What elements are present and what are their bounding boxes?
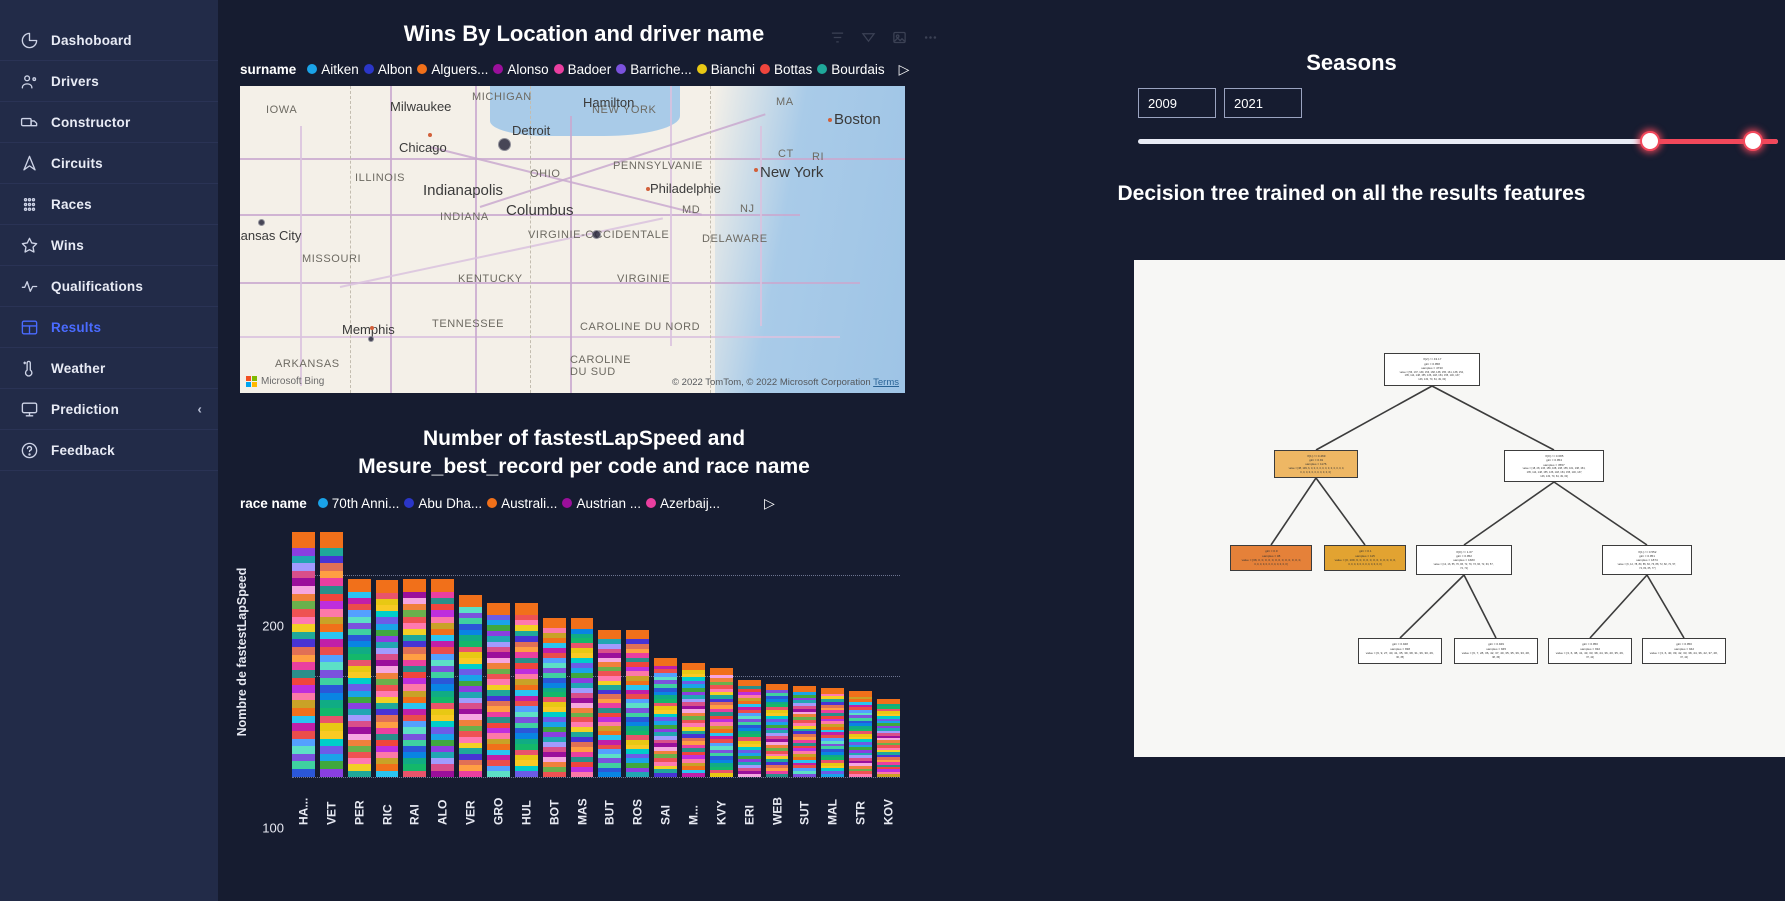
map-region-label: MICHIGAN: [472, 91, 532, 103]
bar-column[interactable]: [738, 680, 761, 777]
activity-icon: [18, 275, 40, 297]
bar-column[interactable]: [515, 603, 538, 776]
sidebar-item-label: Feedback: [51, 443, 115, 458]
legend-color-swatch: [493, 64, 503, 74]
bar-segment: [320, 617, 343, 625]
map-region-label: MD: [682, 204, 700, 216]
bar-segment: [292, 639, 315, 647]
legend-color-swatch: [307, 64, 317, 74]
users-icon: [18, 70, 40, 92]
bar-column[interactable]: [598, 630, 621, 777]
bar-column[interactable]: [571, 618, 594, 776]
x-axis-tick: SAI: [654, 781, 677, 825]
tree-node-text: 74, 84, 65, 77]: [1639, 567, 1655, 571]
decision-tree-image[interactable]: X[2] <= 43.17gini = 0.958samples = 4733v…: [1134, 260, 1785, 757]
x-axis-tick: RIC: [376, 781, 399, 825]
bar-segment: [320, 731, 343, 739]
y-axis-tick: 200: [262, 619, 284, 634]
tree-node: X[1] <= 0.469gini = 0.91samples = 1176va…: [1274, 450, 1358, 478]
tree-edge: [1432, 386, 1554, 450]
legend-label: Alonso: [507, 62, 548, 77]
map-legend-title: surname: [240, 62, 296, 77]
sidebar-item-label: Dashoboard: [51, 33, 132, 48]
map-city-label: Memphis: [342, 322, 395, 337]
legend-color-swatch: [562, 498, 572, 508]
x-axis-tick: BUT: [598, 781, 621, 825]
bar-segment-top: [598, 630, 621, 640]
bar-segment-top: [543, 618, 566, 628]
bar-segment: [292, 754, 315, 762]
legend-item[interactable]: Alonso: [493, 62, 548, 77]
tree-node-text: 0, 0, 0, 0, 0, 0, 0, 0, 0, 0, 0, 0]: [1254, 563, 1287, 567]
bar-segment: [320, 624, 343, 632]
map-point: [428, 133, 432, 137]
legend-color-swatch: [417, 64, 427, 74]
bar-segment: [571, 772, 594, 777]
sidebar: DashoboardDriversConstructorCircuitsRace…: [0, 0, 218, 901]
legend-item[interactable]: Bourdais: [817, 62, 884, 77]
bar-segment: [320, 563, 343, 571]
x-axis-tick: MAL: [821, 781, 844, 825]
bar-column[interactable]: [793, 686, 816, 777]
bar-segment: [292, 700, 315, 708]
legend-label: Aitken: [321, 62, 359, 77]
bar-segment-top: [682, 663, 705, 670]
x-axis-tick: BOT: [543, 781, 566, 825]
legend-item[interactable]: Bianchi: [697, 62, 755, 77]
map-region-label: CAROLINE DU SUD: [570, 354, 630, 379]
bar-segment: [292, 731, 315, 739]
bar-segment-top: [348, 579, 371, 592]
slider-handle-left[interactable]: [1640, 131, 1660, 151]
bar-segment: [626, 772, 649, 777]
tree-node: X[2] <= 43.17gini = 0.958samples = 4733v…: [1384, 353, 1480, 386]
map-city-label: New York: [760, 164, 823, 181]
map-road: [475, 86, 477, 393]
map-region-label: RI: [812, 151, 824, 163]
tree-node-text: 0, 0, 0, 0, 0, 0, 0, 0, 0, 0, 0]: [1301, 471, 1331, 475]
bar-segment: [292, 617, 315, 625]
bar-segment: [292, 769, 315, 777]
tree-edge: [1316, 386, 1432, 450]
legend-item[interactable]: Aitken: [307, 62, 359, 77]
sidebar-item-label: Qualifications: [51, 279, 143, 294]
thermometer-icon: [18, 357, 40, 379]
x-axis-tick: KOV: [877, 781, 900, 825]
sidebar-item-feedback[interactable]: Feedback: [0, 430, 218, 471]
bar-segment-top: [654, 658, 677, 666]
bar-segment: [320, 578, 343, 586]
seasons-and-tree-panel: Seasons 2009 2021 Decision tree trained …: [918, 0, 1785, 901]
bar-segment: [292, 662, 315, 670]
map-region-label: MISSOURI: [302, 253, 361, 265]
tree-node: X[1] <= 0.552gini = 0.951samples = 1874v…: [1602, 545, 1692, 575]
tree-edge: [1400, 575, 1464, 638]
season-from-input[interactable]: 2009: [1138, 88, 1216, 118]
sidebar-item-wins[interactable]: Wins: [0, 225, 218, 266]
x-axis-tick: ERI: [738, 781, 761, 825]
map-point: [754, 168, 758, 172]
truck-icon: [18, 111, 40, 133]
bar-segment: [292, 563, 315, 571]
bar-segment: [292, 739, 315, 747]
bing-attribution: Microsoft Bing: [246, 376, 324, 387]
map-point: [646, 187, 650, 191]
bar-visual-title: Number of fastestLapSpeed and Mesure_bes…: [240, 425, 928, 482]
x-axis-tick: WEB: [766, 781, 789, 825]
tree-node-text: 74, 71]: [1460, 567, 1468, 571]
sidebar-item-label: Circuits: [51, 156, 103, 171]
legend-label: Austrian ...: [576, 496, 641, 511]
map-region-label: ARKANSAS: [275, 358, 340, 370]
bar-segment: [320, 693, 343, 701]
bar-segment: [292, 624, 315, 632]
tree-node: gini = 0.950samples = 932value = [3, 6, …: [1548, 638, 1632, 664]
bar-segment: [682, 773, 705, 777]
bar-segment: [320, 716, 343, 724]
legend-item[interactable]: Australi...: [487, 496, 557, 511]
map-road: [760, 126, 762, 326]
chevron-right-icon[interactable]: ▷: [764, 496, 775, 510]
x-axis-tick: HA...: [292, 781, 315, 825]
bar-segment: [292, 670, 315, 678]
sidebar-item-label: Wins: [51, 238, 84, 253]
bar-segment: [320, 670, 343, 678]
bar-segment-top: [710, 668, 733, 675]
map-data-bubble[interactable]: [368, 336, 374, 342]
plot-area: 0100200: [292, 525, 900, 777]
bar-segment-top: [571, 618, 594, 628]
legend-color-swatch: [760, 64, 770, 74]
sidebar-item-label: Results: [51, 320, 101, 335]
legend-color-swatch: [318, 498, 328, 508]
legend-color-swatch: [364, 64, 374, 74]
legend-label: 70th Anni...: [332, 496, 400, 511]
bar-column[interactable]: [849, 691, 872, 777]
tree-node-text: 0, 0, 0, 0, 0, 0, 0, 0, 0, 0, 0, 0]: [1348, 563, 1381, 567]
y-axis-label: Nombre de fastestLapSpeed: [235, 567, 249, 736]
bar-column[interactable]: [766, 684, 789, 777]
map-city-label: Hamilton: [583, 95, 634, 110]
bar-legend-title: race name: [240, 496, 307, 511]
legend-item[interactable]: Albon: [364, 62, 413, 77]
bar-column[interactable]: [487, 603, 510, 776]
bar-segment: [292, 647, 315, 655]
bar-segment: [320, 708, 343, 716]
bar-segment: [320, 594, 343, 602]
legend-item[interactable]: Badoer: [554, 62, 612, 77]
grid-dots-icon: [18, 193, 40, 215]
bar-segment: [292, 586, 315, 594]
legend-item[interactable]: Abu Dha...: [404, 496, 482, 511]
legend-label: Bianchi: [711, 62, 755, 77]
bar-segment: [292, 556, 315, 564]
bar-segment: [459, 771, 482, 777]
map-road: [390, 86, 392, 393]
bar-column[interactable]: [431, 579, 454, 777]
y-axis-tick: 100: [262, 821, 284, 836]
bar-segment: [292, 723, 315, 731]
bar-segment: [348, 771, 371, 777]
map-road: [240, 158, 905, 160]
bar-segment: [487, 771, 510, 776]
map-region-label: PENNSYLVANIE: [613, 160, 703, 172]
map-region-label: OHIO: [530, 168, 561, 180]
x-axis-tick: SUT: [793, 781, 816, 825]
map-city-label: Boston: [834, 111, 881, 128]
tree-node-text: gini = 0.954: [1546, 458, 1562, 462]
tree-node-text: 37, 42]: [1586, 656, 1594, 660]
x-axis-tick: GRO: [487, 781, 510, 825]
x-axis-tick: ROS: [626, 781, 649, 825]
bar-segment: [710, 773, 733, 776]
bar-column[interactable]: [626, 630, 649, 777]
bar-segment: [292, 609, 315, 617]
bar-column[interactable]: [654, 658, 677, 777]
bing-map[interactable]: IOWA MICHIGAN NEW YORK ILLINOIS INDIANA …: [240, 86, 905, 393]
bar-segment: [292, 716, 315, 724]
bar-segment-top: [459, 595, 482, 607]
bar-segment: [849, 774, 872, 777]
tree-edge: [1647, 575, 1684, 638]
legend-color-swatch: [554, 64, 564, 74]
map-terms-link[interactable]: Terms: [873, 377, 899, 388]
star-icon: [18, 234, 40, 256]
bar-series: [292, 525, 900, 777]
decision-tree-title: Decision tree trained on all the results…: [918, 182, 1785, 206]
map-copyright-text: © 2022 TomTom, © 2022 Microsoft Corporat…: [672, 377, 871, 388]
tree-node: gini = 0.949samples = 845value = [6, 7, …: [1454, 638, 1538, 664]
bar-column[interactable]: [459, 595, 482, 776]
tree-node: gini = 0.1samples = 115value = [0, 109, …: [1324, 545, 1406, 571]
monitor-icon: [18, 398, 40, 420]
bar-segment-top: [515, 603, 538, 614]
legend-item[interactable]: Austrian ...: [562, 496, 641, 511]
fastest-lap-speed-visual: Number of fastestLapSpeed and Mesure_bes…: [240, 425, 928, 885]
pie-chart-icon: [18, 29, 40, 51]
navigation-icon: [18, 152, 40, 174]
x-axis-tick: VER: [459, 781, 482, 825]
legend-item[interactable]: Alguers...: [417, 62, 488, 77]
legend-color-swatch: [404, 498, 414, 508]
bar-segment: [738, 774, 761, 777]
x-axis-tick: MAS: [571, 781, 594, 825]
chevron-left-icon[interactable]: ‹: [197, 402, 202, 417]
bar-segment: [320, 548, 343, 556]
bar-segment: [292, 594, 315, 602]
bar-column[interactable]: [320, 532, 343, 777]
gridline: 0: [292, 777, 900, 778]
bar-segment: [793, 774, 816, 777]
season-range-inputs[interactable]: 2009 2021: [1138, 88, 1302, 118]
tree-edge: [1590, 575, 1647, 638]
legend-color-swatch: [616, 64, 626, 74]
map-region-label: VIRGINIE: [617, 273, 670, 285]
bar-segment: [292, 571, 315, 579]
tree-edge: [1271, 478, 1316, 545]
map-data-bubble[interactable]: [258, 219, 265, 226]
bar-column[interactable]: [877, 699, 900, 777]
map-city-label: Detroit: [512, 123, 550, 138]
map-region-label: CAROLINE DU NORD: [580, 321, 700, 333]
bar-segment: [320, 609, 343, 617]
tree-node: X[0] <= 0.685gini = 0.954samples = 3557v…: [1504, 450, 1604, 482]
tree-node-text: 37, 42]: [1680, 656, 1688, 660]
bar-segment: [821, 774, 844, 777]
tree-node-text: 146, 132, 70, 64, 49, 32]: [1418, 378, 1446, 382]
sidebar-item-prediction[interactable]: Prediction‹: [0, 389, 218, 430]
layout-icon: [18, 316, 40, 338]
season-range-slider[interactable]: [1138, 128, 1778, 156]
sidebar-item-constructor[interactable]: Constructor: [0, 102, 218, 143]
legend-color-swatch: [697, 64, 707, 74]
bar-column[interactable]: [543, 617, 566, 776]
map-region-label: NJ: [740, 203, 755, 215]
bar-segment: [320, 601, 343, 609]
map-city-label: Milwaukee: [390, 99, 451, 114]
legend-label: Barriche...: [630, 62, 692, 77]
x-axis-tick: HUL: [515, 781, 538, 825]
sidebar-item-results[interactable]: Results: [0, 307, 218, 348]
tree-node-text: 146, 132, 70, 64, 49, 32]: [1540, 475, 1568, 479]
sidebar-item-weather[interactable]: Weather: [0, 348, 218, 389]
x-axis-tick: RAI: [403, 781, 426, 825]
legend-item[interactable]: Azerbaij...: [646, 496, 720, 511]
bar-segment: [292, 708, 315, 716]
sidebar-item-qualifications[interactable]: Qualifications: [0, 266, 218, 307]
legend-label: Bourdais: [831, 62, 884, 77]
legend-item[interactable]: 70th Anni...: [318, 496, 400, 511]
bar-segment: [515, 771, 538, 776]
bar-column[interactable]: [682, 663, 705, 777]
legend-label: Australi...: [501, 496, 557, 511]
x-axis-tick: VET: [320, 781, 343, 825]
stacked-bar-chart: Nombre de fastestLapSpeed 0100200 HA...V…: [240, 525, 900, 777]
tree-node: X[0] <= 1.07gini = 0.952samples = 1683va…: [1416, 545, 1512, 575]
tree-node-text: X[2] <= 43.17: [1423, 357, 1441, 361]
map-point: [828, 118, 832, 122]
tree-edge: [1464, 575, 1496, 638]
sidebar-item-circuits[interactable]: Circuits: [0, 143, 218, 184]
seasons-title: Seasons: [918, 50, 1785, 76]
map-visual-title: Wins By Location and driver name: [240, 20, 928, 48]
map-data-bubble[interactable]: [592, 230, 601, 239]
bar-segment: [320, 662, 343, 670]
legend-label: Bottas: [774, 62, 812, 77]
tree-node-text: 36, 35]: [1396, 656, 1404, 660]
season-to-input[interactable]: 2021: [1224, 88, 1302, 118]
bar-column[interactable]: [292, 532, 315, 777]
x-axis-labels: HA...VETPERRICRAIALOVERGROHULBOTMASBUTRO…: [292, 781, 900, 825]
map-city-label: Chicago: [399, 140, 447, 155]
map-road: [240, 336, 840, 338]
bar-segment-top: [626, 630, 649, 640]
app-root: DashoboardDriversConstructorCircuitsRace…: [0, 0, 1785, 901]
x-axis-tick: M...: [682, 781, 705, 825]
x-axis-tick: KVY: [710, 781, 733, 825]
bar-segment: [320, 769, 343, 777]
bar-segment-top: [487, 603, 510, 614]
bar-column[interactable]: [821, 688, 844, 777]
bar-segment: [320, 723, 343, 731]
bar-segment: [292, 548, 315, 556]
map-data-bubble[interactable]: [498, 138, 511, 151]
bar-segment: [292, 601, 315, 609]
bar-segment: [292, 655, 315, 663]
tree-node: gini = 0.948samples = 838value = [6, 9, …: [1358, 638, 1442, 664]
legend-item[interactable]: Barriche...: [616, 62, 692, 77]
bar-column[interactable]: [376, 580, 399, 777]
bar-segment-top: [320, 532, 343, 548]
bar-legend[interactable]: race name 70th Anni...Abu Dha...Australi…: [240, 496, 928, 511]
legend-item[interactable]: Bottas: [760, 62, 812, 77]
tree-node-text: samples = 4733: [1421, 366, 1442, 370]
bar-column[interactable]: [348, 579, 371, 777]
map-copyright: © 2022 TomTom, © 2022 Microsoft Corporat…: [672, 377, 899, 388]
bar-segment: [320, 571, 343, 579]
sidebar-item-label: Weather: [51, 361, 105, 376]
bar-segment: [320, 647, 343, 655]
bar-segment: [292, 678, 315, 686]
legend-label: Badoer: [568, 62, 612, 77]
bar-segment: [320, 739, 343, 747]
bar-segment-top: [376, 580, 399, 593]
x-axis-tick: ALO: [431, 781, 454, 825]
bar-segment: [320, 746, 343, 754]
legend-color-swatch: [646, 498, 656, 508]
map-point: [370, 326, 374, 330]
bar-segment: [320, 639, 343, 647]
bar-segment: [320, 586, 343, 594]
bar-column[interactable]: [403, 579, 426, 777]
wins-by-location-visual: Wins By Location and driver name surname…: [240, 20, 928, 430]
sidebar-item-drivers[interactable]: Drivers: [0, 61, 218, 102]
map-gridline: [350, 86, 351, 393]
help-circle-icon: [18, 439, 40, 461]
bing-brand-label: Microsoft Bing: [261, 376, 324, 387]
map-city-label: Kansas City: [240, 228, 301, 243]
sidebar-item-dashoboard[interactable]: Dashoboard: [0, 20, 218, 61]
bar-segment: [320, 678, 343, 686]
bar-column[interactable]: [710, 668, 733, 777]
map-road: [570, 116, 572, 393]
tree-node: gini = 0.0samples = 38value = [38, 0, 0,…: [1230, 545, 1312, 571]
bar-segment: [320, 632, 343, 640]
sidebar-item-label: Races: [51, 197, 92, 212]
sidebar-item-label: Prediction: [51, 402, 119, 417]
sidebar-item-label: Drivers: [51, 74, 99, 89]
bar-segment: [403, 771, 426, 777]
bar-segment: [320, 685, 343, 693]
bar-segment: [292, 746, 315, 754]
tree-edge: [1464, 482, 1554, 545]
slider-handle-right[interactable]: [1743, 131, 1763, 151]
bar-segment: [320, 754, 343, 762]
x-axis-tick: PER: [348, 781, 371, 825]
map-region-label: CT: [778, 148, 794, 160]
bar-segment: [320, 556, 343, 564]
bar-title-line2: Mesure_best_record per code and race nam…: [358, 455, 810, 478]
map-city-label: Columbus: [506, 202, 574, 219]
sidebar-item-races[interactable]: Races: [0, 184, 218, 225]
map-legend[interactable]: surname AitkenAlbonAlguers...AlonsoBadoe…: [240, 62, 928, 77]
chevron-right-icon[interactable]: ▷: [899, 62, 910, 76]
bar-segment-top: [431, 579, 454, 592]
map-road: [670, 86, 672, 346]
bar-segment: [877, 774, 900, 776]
map-region-label: INDIANA: [440, 211, 489, 223]
bar-segment: [376, 771, 399, 777]
